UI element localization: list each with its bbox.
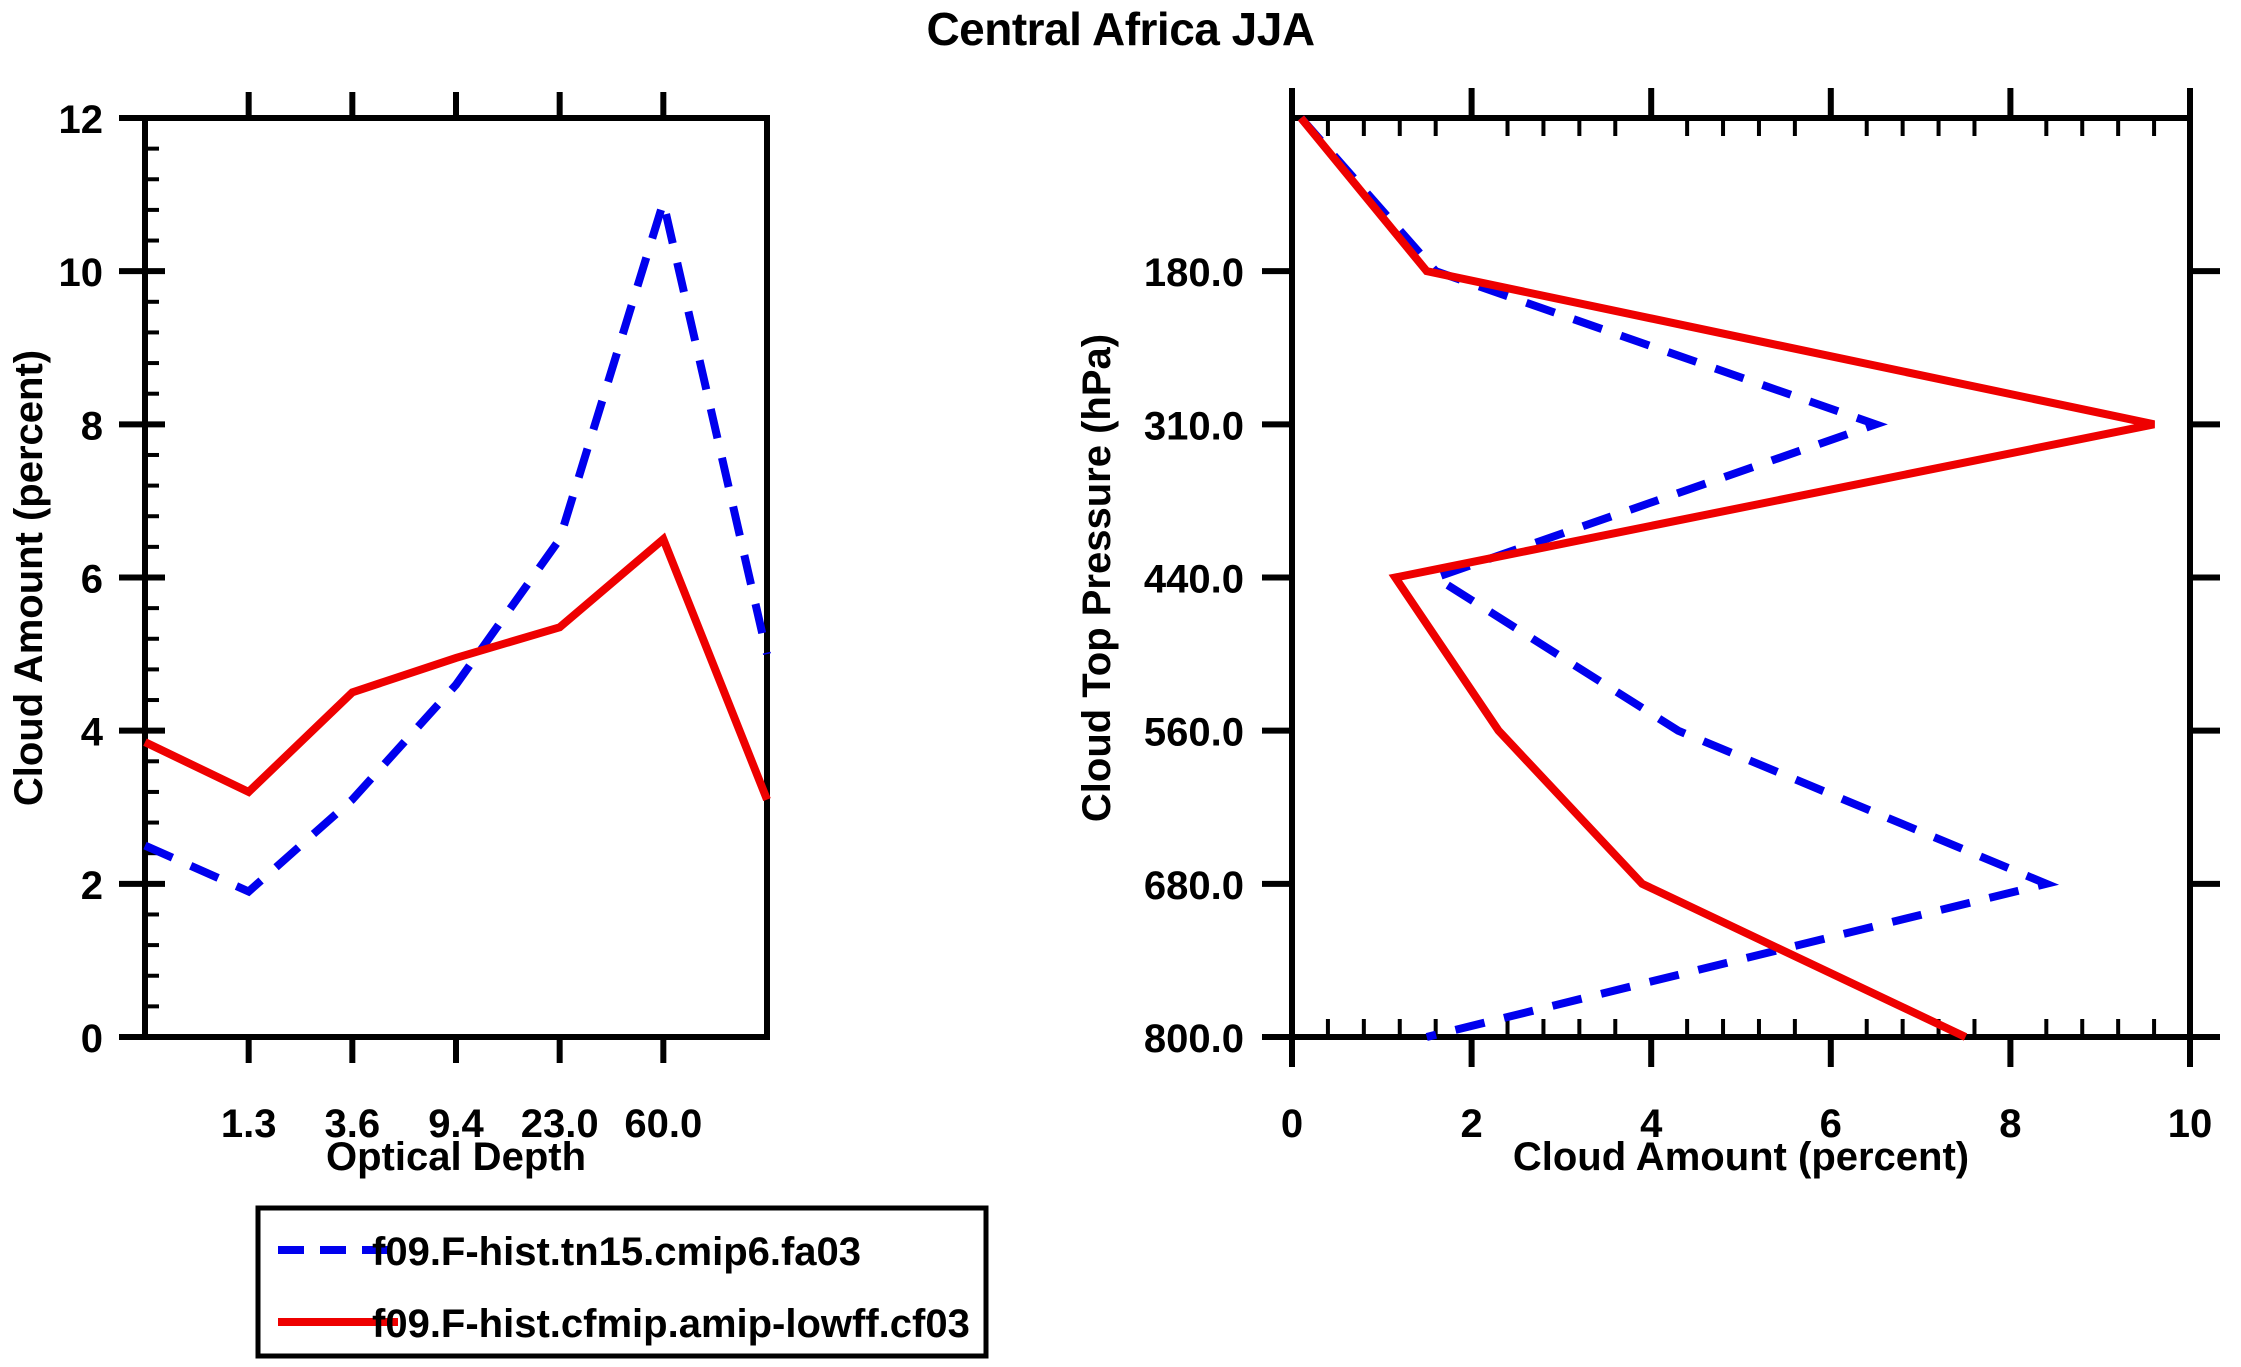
left-panel: 1.33.69.423.060.0024681012 Optical Depth… xyxy=(7,92,767,1179)
left-panel-series xyxy=(145,202,767,891)
left-panel-frame xyxy=(145,118,767,1037)
legend-item-1[interactable]: f09.F-hist.cfmip.amip-lowff.cf03 xyxy=(278,1302,970,1346)
right-panel-x-axis-title: Cloud Amount (percent) xyxy=(1513,1135,1969,1179)
y-tick-label: 180.0 xyxy=(1144,251,1244,295)
y-tick-label: 6 xyxy=(81,558,103,602)
x-tick-label: 1.3 xyxy=(221,1102,277,1146)
legend: f09.F-hist.tn15.cmip6.fa03 f09.F-hist.cf… xyxy=(258,1208,986,1356)
figure-canvas: Central Africa JJA 1.33.69.423.060.00246… xyxy=(0,0,2241,1367)
left-panel-y-axis-title: Cloud Amount (percent) xyxy=(7,350,51,806)
left-series-red-solid xyxy=(145,539,767,799)
right-panel: 0246810180.0310.0440.0560.0680.0800.0 Cl… xyxy=(1075,88,2220,1179)
right-series-red-solid xyxy=(1301,118,2154,1037)
right-panel-series xyxy=(1301,118,2154,1037)
left-panel-x-axis-title: Optical Depth xyxy=(326,1135,586,1179)
right-panel-frame xyxy=(1292,118,2190,1037)
y-tick-label: 8 xyxy=(81,404,103,448)
y-tick-label: 10 xyxy=(59,251,104,295)
legend-item-0-label: f09.F-hist.tn15.cmip6.fa03 xyxy=(372,1230,861,1274)
right-panel-y-axis-title: Cloud Top Pressure (hPa) xyxy=(1075,334,1119,822)
x-tick-label: 60.0 xyxy=(624,1102,702,1146)
y-tick-label: 12 xyxy=(59,98,104,142)
y-tick-label: 4 xyxy=(81,711,104,755)
left-panel-tick-labels: 1.33.69.423.060.0024681012 xyxy=(59,98,703,1146)
right-panel-tick-labels: 0246810180.0310.0440.0560.0680.0800.0 xyxy=(1144,251,2212,1146)
y-tick-label: 2 xyxy=(81,864,103,908)
y-tick-label: 440.0 xyxy=(1144,558,1244,602)
plot-layer: 1.33.69.423.060.0024681012 Optical Depth… xyxy=(0,0,2241,1367)
x-tick-label: 8 xyxy=(1999,1102,2021,1146)
y-tick-label: 0 xyxy=(81,1017,103,1061)
left-panel-ticks xyxy=(119,92,663,1063)
x-tick-label: 0 xyxy=(1281,1102,1303,1146)
x-tick-label: 10 xyxy=(2168,1102,2213,1146)
y-tick-label: 310.0 xyxy=(1144,404,1244,448)
y-tick-label: 560.0 xyxy=(1144,711,1244,755)
legend-item-1-label: f09.F-hist.cfmip.amip-lowff.cf03 xyxy=(372,1302,970,1346)
y-tick-label: 800.0 xyxy=(1144,1017,1244,1061)
x-tick-label: 2 xyxy=(1460,1102,1482,1146)
y-tick-label: 680.0 xyxy=(1144,864,1244,908)
